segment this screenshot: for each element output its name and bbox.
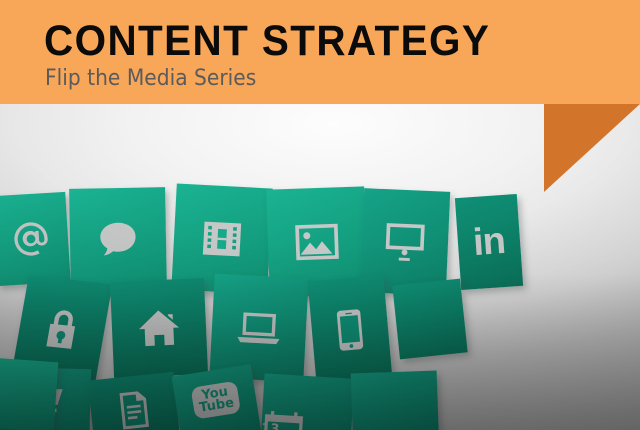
mosaic-tile-email[interactable] [0, 192, 71, 286]
speech-bubble-icon [69, 187, 167, 293]
at-sign-icon [0, 192, 71, 286]
linkedin-icon: in [455, 194, 523, 290]
mosaic-tile-youtube[interactable]: You Tube [172, 364, 265, 430]
youtube-badge: You Tube [191, 381, 241, 420]
mosaic-tile-filler-1 [351, 371, 440, 430]
page-subtitle: Flip the Media Series [45, 68, 256, 90]
laptop-icon [209, 274, 308, 383]
mosaic-tile-document[interactable] [88, 372, 183, 430]
calendar-icon: 13 [260, 373, 355, 430]
banner-header: CONTENT STRATEGY Flip the Media Series [0, 0, 640, 104]
mosaic-tile-filler-3 [0, 358, 58, 430]
youtube-label-bottom: Tube [199, 397, 235, 414]
home-icon [110, 278, 208, 378]
calendar-day: 13 [261, 421, 280, 430]
youtube-icon: You Tube [172, 364, 265, 430]
content-strategy-banner: in [0, 0, 640, 430]
fold-triangle [544, 104, 640, 192]
mosaic-tile-filler-2 [392, 279, 467, 360]
document-icon [88, 372, 183, 430]
smartphone-icon [308, 275, 393, 385]
mosaic-tile-mobile[interactable] [308, 275, 393, 385]
linkedin-label: in [472, 222, 506, 262]
mosaic-tile-home[interactable] [110, 278, 208, 378]
mosaic-tile-chat[interactable] [69, 187, 167, 293]
orange-fold-corner [544, 104, 640, 192]
page-title: CONTENT STRATEGY [44, 20, 490, 63]
mosaic-tile-laptop[interactable] [209, 274, 308, 383]
mosaic-tile-linkedin[interactable]: in [455, 194, 523, 290]
mosaic-tile-calendar[interactable]: 13 [260, 373, 355, 430]
